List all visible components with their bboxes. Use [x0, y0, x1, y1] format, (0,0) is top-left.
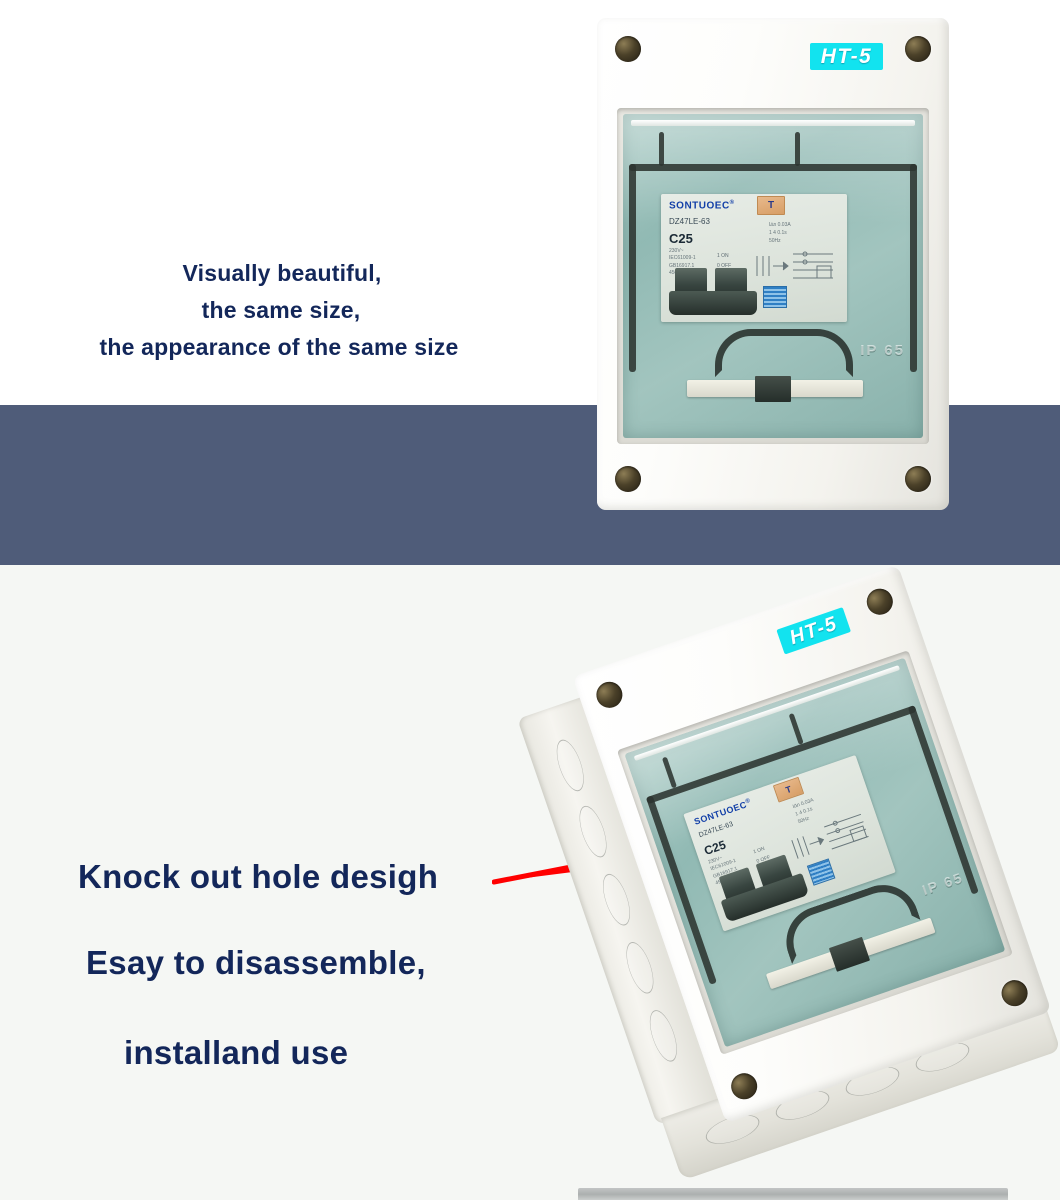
top-headline: Visually beautiful, the same size, the a…	[64, 255, 494, 366]
latch-tab[interactable]	[755, 376, 791, 402]
door-rib-right	[795, 132, 800, 166]
test-button[interactable]: T	[773, 777, 804, 803]
rcd-indicator-window	[763, 286, 787, 308]
breaker-voltage: 230V~	[669, 248, 696, 255]
mounting-screw-top-right	[905, 36, 931, 62]
door-frame-bar-right	[910, 164, 917, 372]
breaker-brand-label: SONTUOEC®	[669, 200, 735, 211]
top-headline-line-3: the appearance of the same size	[64, 329, 494, 366]
door-rib-left	[659, 132, 664, 166]
breaker-position-on: 1 ON	[717, 252, 731, 262]
ip-rating-mark: IP 65	[920, 869, 965, 898]
breaker-rating-label: C25	[669, 231, 693, 246]
ht5-badge-label: HT-5	[821, 45, 873, 69]
mounting-screw-top-left	[615, 36, 641, 62]
breaker-brand-label: SONTUOEC®	[693, 798, 753, 827]
door-handle[interactable]	[715, 329, 853, 377]
product-detail-page: Visually beautiful, the same size, the a…	[0, 0, 1060, 1200]
door-rib-right	[789, 713, 804, 745]
door-frame-bar-top	[629, 164, 917, 171]
transparent-door[interactable]: SONTUOEC® DZ47LE-63 C25 230V~ IEC61009-1…	[623, 114, 923, 438]
knockout-hole	[574, 803, 612, 861]
top-headline-line-2: the same size,	[64, 292, 494, 329]
knockout-hole	[621, 939, 659, 997]
test-button-label: T	[768, 200, 774, 211]
breaker-standard-1: IEC61009-1	[669, 255, 696, 262]
rcd-spec-lines: I∆n 0.03A 1 4 0.1s 50Hz	[769, 222, 791, 245]
door-frame-bar-left	[629, 164, 636, 372]
rcd-spec-1: I∆n 0.03A	[769, 222, 791, 230]
circuit-breaker-module[interactable]: SONTUOEC® DZ47LE-63 C25 230V~ IEC61009-1…	[661, 194, 847, 322]
test-button[interactable]: T	[757, 196, 785, 215]
distribution-box-front-view: HT-5 SONTUOEC® DZ47LE-63 C25 230V~ IEC61…	[597, 18, 949, 510]
bottom-headline-line-2: Esay to disassemble,	[86, 941, 548, 985]
test-button-label: T	[784, 784, 792, 795]
mounting-screw-bottom-left	[615, 466, 641, 492]
knockout-hole	[597, 871, 635, 929]
rcd-indicator-window	[807, 858, 836, 885]
breaker-model-label: DZ47LE-63	[669, 217, 710, 226]
rcd-circuit-diagram-icon	[753, 250, 839, 284]
breaker-toggle-bar[interactable]	[669, 291, 757, 315]
bottom-headline-line-3: installand use	[124, 1031, 548, 1075]
bottom-headline-line-1: Knock out hole desigh	[78, 855, 548, 899]
rcd-spec-lines: I∆n 0.03A 1 4 0.1s 50Hz	[792, 797, 820, 826]
knockout-hole	[551, 736, 589, 794]
knockout-hole	[644, 1007, 682, 1065]
rcd-spec-3: 50Hz	[769, 238, 791, 246]
top-headline-line-1: Visually beautiful,	[64, 255, 494, 292]
rcd-spec-2: 1 4 0.1s	[769, 230, 791, 238]
mounting-screw-bottom-right	[905, 466, 931, 492]
next-section-peek	[578, 1188, 1008, 1200]
door-top-highlight	[631, 120, 915, 126]
door-rib-left	[662, 757, 677, 789]
ip-rating-mark: IP 65	[860, 342, 905, 359]
ht5-badge: HT-5	[810, 43, 883, 70]
bottom-headline: Knock out hole desigh Esay to disassembl…	[78, 855, 548, 1075]
